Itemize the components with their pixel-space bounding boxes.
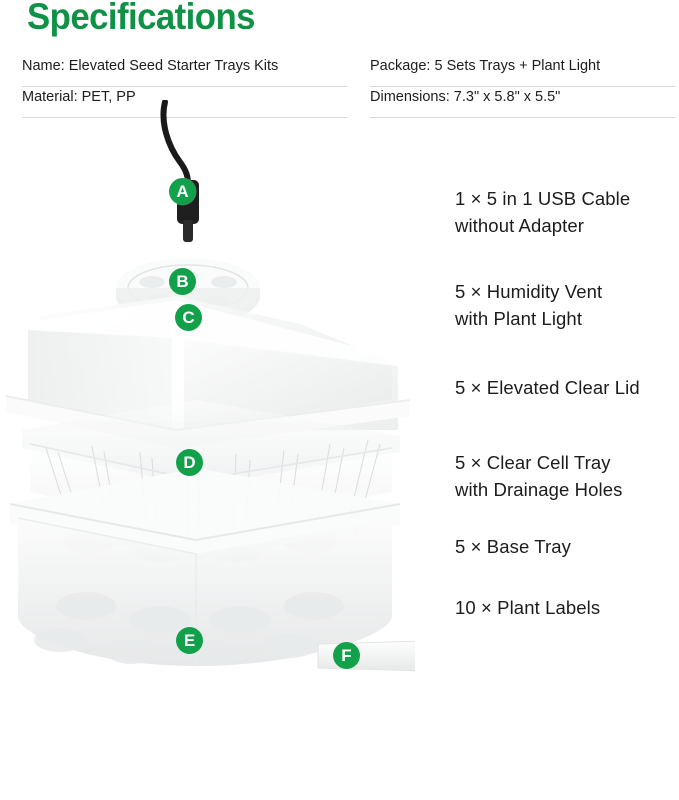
product-illustration: A B C D E F bbox=[0, 100, 415, 685]
legend-line: 5 × Base Tray bbox=[455, 533, 679, 560]
legend-line: 5 × Elevated Clear Lid bbox=[455, 374, 679, 401]
spec-row-dimensions: Dimensions: 7.3" x 5.8" x 5.5" bbox=[370, 87, 675, 118]
callout-badge-f: F bbox=[333, 642, 360, 669]
spec-row-name: Name: Elevated Seed Starter Trays Kits bbox=[22, 56, 347, 87]
legend-text-a: 1 × 5 in 1 USB Cable without Adapter bbox=[455, 185, 679, 239]
legend-line: with Plant Light bbox=[455, 305, 679, 332]
legend-line: 1 × 5 in 1 USB Cable bbox=[455, 185, 679, 212]
legend-text-e: 5 × Base Tray bbox=[455, 533, 679, 560]
spec-name-value: Name: Elevated Seed Starter Trays Kits bbox=[22, 56, 278, 77]
callout-badge-c: C bbox=[175, 304, 202, 331]
legend-line: without Adapter bbox=[455, 212, 679, 239]
legend-line: 5 × Clear Cell Tray bbox=[455, 449, 679, 476]
legend-line: 10 × Plant Labels bbox=[455, 594, 679, 621]
spec-row-package: Package: 5 Sets Trays + Plant Light bbox=[370, 56, 675, 87]
callout-badge-e: E bbox=[176, 627, 203, 654]
spec-column-right: Package: 5 Sets Trays + Plant Light Dime… bbox=[370, 56, 675, 118]
usb-cable-art bbox=[163, 102, 199, 242]
callout-badge-d: D bbox=[176, 449, 203, 476]
callout-badge-b: B bbox=[169, 268, 196, 295]
page-title: Specifications bbox=[27, 0, 255, 38]
legend-text-b: 5 × Humidity Vent with Plant Light bbox=[455, 278, 679, 332]
legend-text-c: 5 × Elevated Clear Lid bbox=[455, 374, 679, 401]
legend-line: with Drainage Holes bbox=[455, 476, 679, 503]
legend-text-d: 5 × Clear Cell Tray with Drainage Holes bbox=[455, 449, 679, 503]
specifications-page: Specifications Name: Elevated Seed Start… bbox=[0, 0, 679, 685]
spec-package-value: Package: 5 Sets Trays + Plant Light bbox=[370, 56, 600, 77]
base-tray-art bbox=[10, 468, 400, 666]
legend-text-f: 10 × Plant Labels bbox=[455, 594, 679, 621]
legend-line: 5 × Humidity Vent bbox=[455, 278, 679, 305]
callout-badge-a: A bbox=[169, 178, 196, 205]
